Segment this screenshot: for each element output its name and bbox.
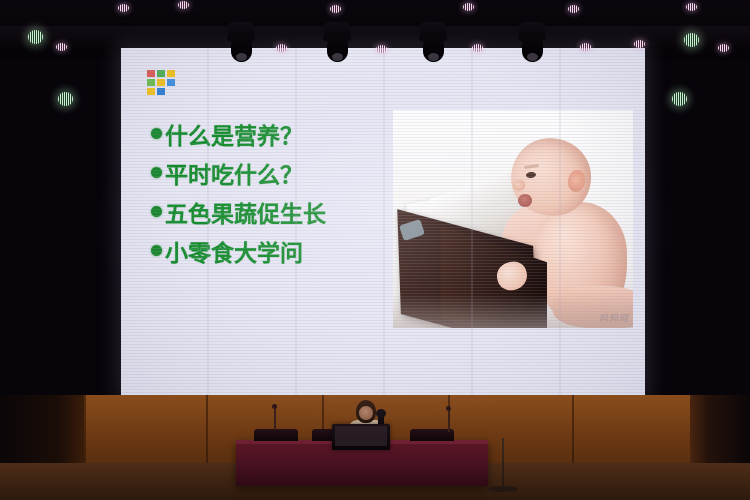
logo-tile-blue2 [157,88,165,95]
wall-shadow-right [690,395,750,463]
ceiling-light [58,92,73,106]
ceiling-light [686,3,697,11]
baby-nose [513,180,525,191]
bullet-text: 五色果蔬促生长 [165,195,326,229]
auditorium-scene: 什么是营养？ 平时吃什么？ 五色果蔬促生长 小零食大学问 [0,0,750,500]
logo-tile-green [157,70,165,77]
logo-tile-yellow [167,70,175,77]
presenter-face [359,406,373,420]
conference-microphone-unit [254,429,298,441]
spotlight-lens [332,53,343,61]
baby-reading-book-photo: 妈妈网 [393,110,633,328]
ceiling-light [580,43,591,51]
photo-floor-shadow [393,294,633,328]
logo-tile-green2 [147,79,155,86]
photo-watermark: 妈妈网 [599,311,629,324]
spotlight-lens [527,53,538,61]
bullet-text: 什么是营养？ [165,117,303,151]
ceiling-light [672,92,687,106]
bullet-dot-icon [151,245,162,256]
ceiling-light [568,5,579,13]
wall-shadow-left [0,395,84,463]
logo-tile-yellow3 [147,88,155,95]
standing-microphone-stand [502,438,504,488]
open-laptop[interactable] [332,424,390,450]
baby-mouth [518,194,532,207]
wall-panel-seam [206,395,208,463]
ceiling-light [28,30,43,44]
conference-microphone-head [272,404,277,409]
conference-microphone-stem [448,410,450,432]
bullet-dot-icon [151,128,162,139]
ceiling-light [276,44,287,52]
presentation-slide: 什么是营养？ 平时吃什么？ 五色果蔬促生长 小零食大学问 [121,48,645,395]
bullet-dot-icon [151,206,162,217]
bullet-dot-icon [151,167,162,178]
ceiling-light [684,33,699,47]
logo-tile-blue [167,79,175,86]
microphone-capsule [376,409,386,418]
wall-panel-seam [84,395,86,463]
ceiling-light [178,1,189,9]
laptop-screen [335,426,387,446]
logo-tile-red [147,70,155,77]
ceiling-light [118,4,129,12]
ceiling-light [56,43,67,51]
spotlight-lens [236,53,247,61]
bullet-text: 小零食大学问 [165,234,303,268]
ceiling-light [330,5,341,13]
projection-screen[interactable]: 什么是营养？ 平时吃什么？ 五色果蔬促生长 小零食大学问 [121,48,645,395]
microphone-stand-base [488,486,518,492]
logo-tile-yellow2 [157,79,165,86]
ceiling-light [463,3,474,11]
mosaic-logo [147,70,176,96]
ceiling-light [472,44,483,52]
ceiling-light [634,40,645,48]
conference-microphone-stem [274,408,276,430]
ceiling-light [718,44,729,52]
spotlight-lens [428,53,439,61]
bullet-text: 平时吃什么？ [165,156,303,190]
ceiling-light [376,45,387,53]
conference-microphone-head [446,406,451,411]
wall-panel-seam [572,395,574,463]
